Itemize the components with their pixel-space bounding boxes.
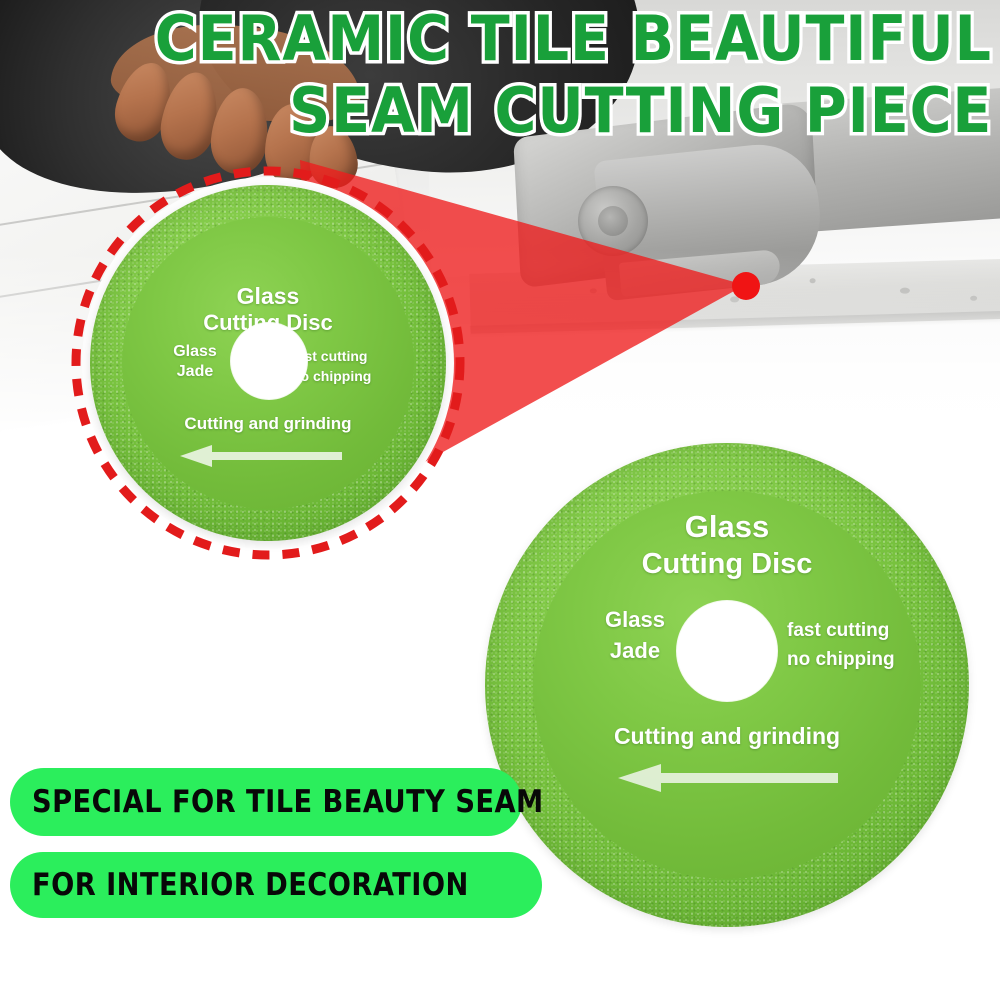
small-disc-title: Glass: [168, 284, 368, 309]
small-disc-left-line2: Jade: [152, 363, 238, 380]
large-disc-left-line2: Jade: [577, 639, 693, 663]
product-promo-image: Glass Cutting Disc Glass Jade fast cutti…: [0, 0, 1000, 1000]
large-disc-bottom-text: Cutting and grinding: [567, 724, 887, 749]
large-disc-right-line1: fast cutting: [787, 621, 937, 642]
large-disc-arbor-hole: [677, 601, 777, 701]
banner-pill-special-for-tile-beauty-seam: SPECIAL FOR TILE BEAUTY SEAM: [10, 768, 522, 836]
small-disc-right-line2: no chipping: [292, 369, 402, 384]
small-disc-right-line1: fast cutting: [292, 349, 402, 364]
small-cutting-disc: Glass Cutting Disc Glass Jade fast cutti…: [68, 163, 468, 563]
large-disc-right-line2: no chipping: [787, 650, 937, 671]
large-cutting-disc: Glass Cutting Disc Glass Jade fast cutti…: [485, 443, 969, 927]
large-disc-left-line1: Glass: [577, 608, 693, 632]
banner-pill-1-label: SPECIAL FOR TILE BEAUTY SEAM: [32, 784, 544, 820]
small-disc-arbor-hole: [231, 323, 307, 399]
small-disc-left-line1: Glass: [152, 343, 238, 360]
banner-pill-2-label: FOR INTERIOR DECORATION: [32, 867, 469, 903]
small-disc-bottom-text: Cutting and grinding: [138, 415, 398, 433]
large-disc-title: Glass: [607, 510, 847, 543]
small-disc-rotation-arrow-icon: [176, 443, 346, 469]
large-disc-subtitle: Cutting Disc: [577, 549, 877, 580]
headline-line-1: CERAMIC TILE BEAUTIFUL: [155, 8, 992, 70]
headline-line-2: SEAM CUTTING PIECE: [289, 80, 992, 142]
large-disc-rotation-arrow-icon: [613, 761, 843, 795]
photo-grinder-flange-bolt: [598, 206, 628, 236]
banner-pill-for-interior-decoration: FOR INTERIOR DECORATION: [10, 852, 542, 918]
